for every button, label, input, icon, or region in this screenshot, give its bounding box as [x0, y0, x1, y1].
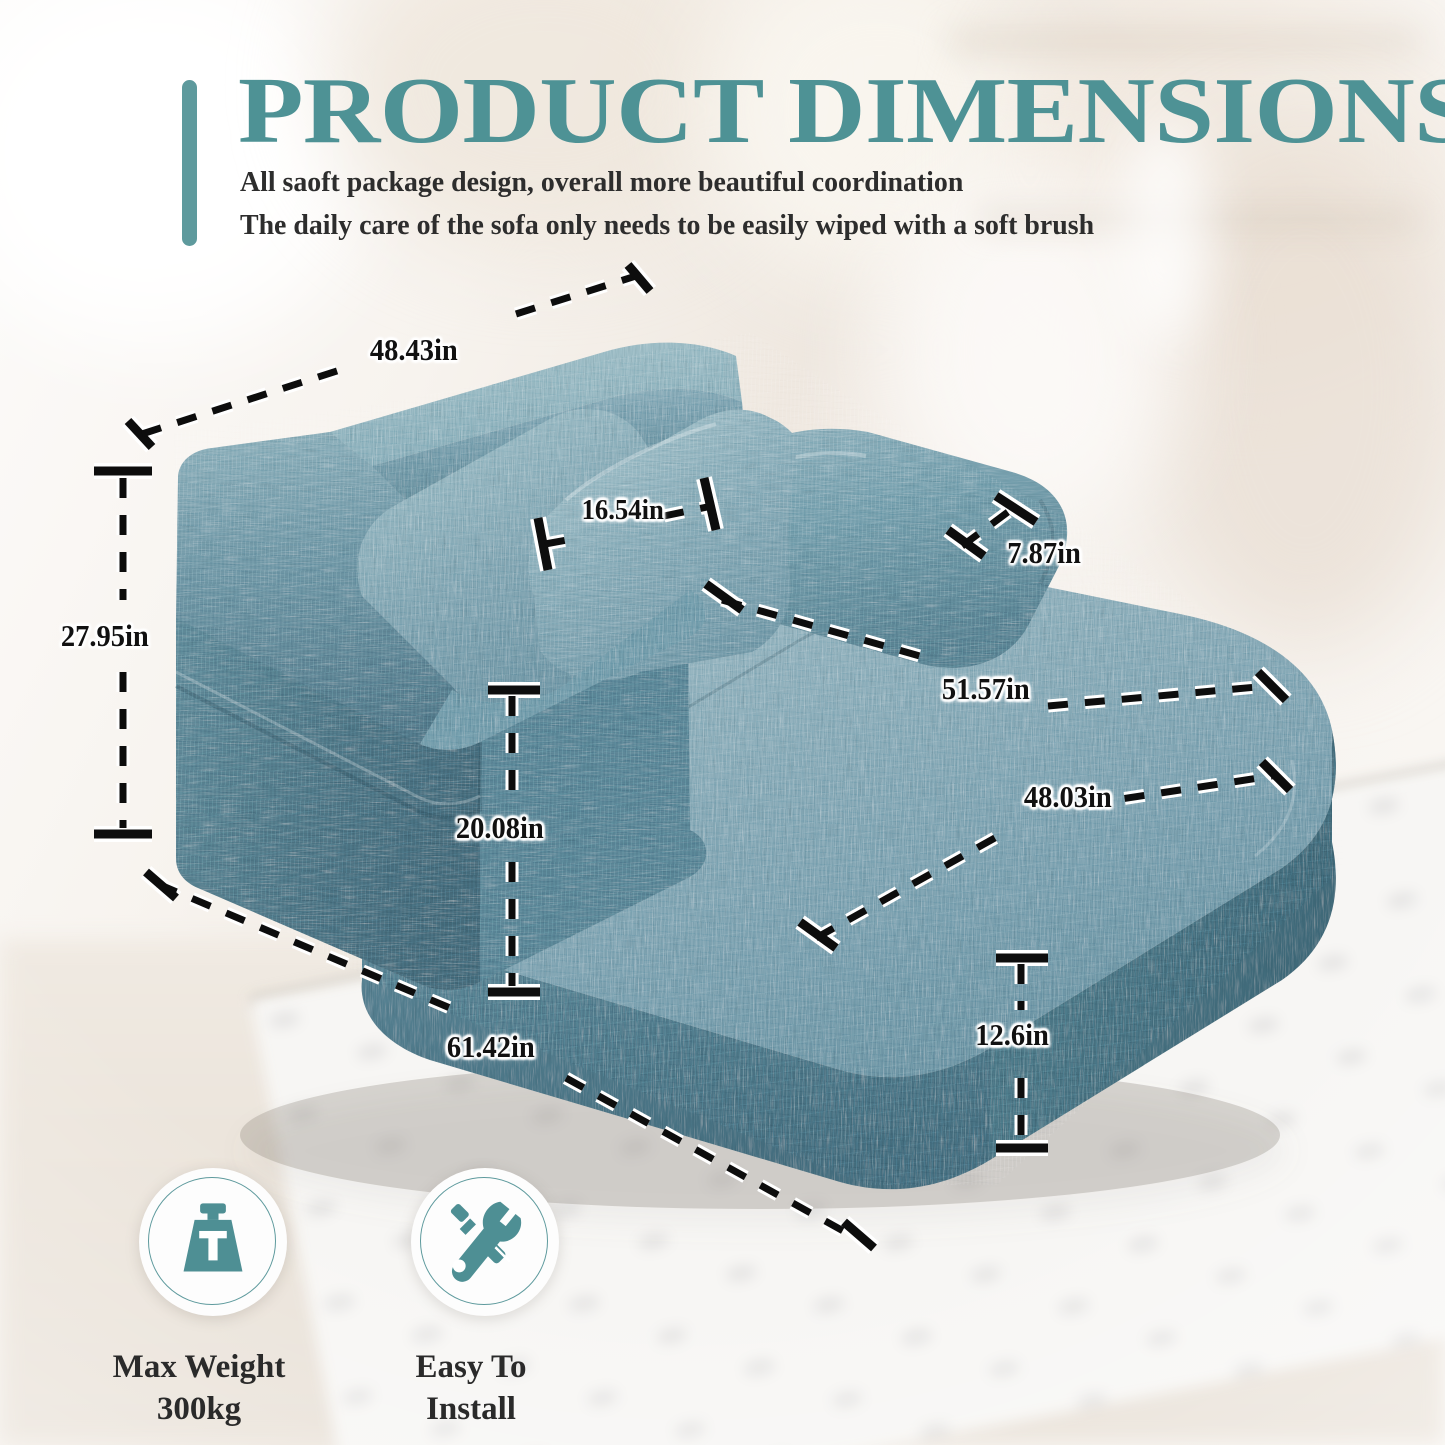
- dimension-label-12-6: 12.6in: [975, 1017, 1049, 1053]
- page-title: PRODUCT DIMENSIONS: [238, 64, 1445, 158]
- tools-icon: [439, 1196, 531, 1288]
- weight-icon: [167, 1196, 259, 1288]
- feature-badge-line-2: Install: [351, 1388, 591, 1430]
- dimension-label-16-54: 16.54in: [582, 494, 664, 527]
- dimension-label-7-87: 7.87in: [1007, 535, 1081, 571]
- feature-badge-circle: [411, 1168, 559, 1316]
- product-dimensions-infographic: .dl{stroke:#0d0d0d;stroke-width:7;stroke…: [0, 0, 1445, 1445]
- dimension-label-27-95: 27.95in: [61, 618, 149, 654]
- header-accent-bar: [182, 80, 197, 246]
- header-subtitle-line-1: All saoft package design, overall more b…: [240, 166, 963, 199]
- dimension-line-12-6: [996, 958, 1048, 1148]
- feature-badge-line-1: Easy To: [351, 1346, 591, 1388]
- feature-badge-line-1: Max Weight: [79, 1346, 319, 1388]
- dimension-label-48-03: 48.03in: [1024, 779, 1112, 815]
- feature-badge-line-2: 300kg: [79, 1388, 319, 1430]
- feature-badge-text: Easy To Install: [351, 1346, 591, 1430]
- dimension-label-51-57: 51.57in: [942, 671, 1030, 707]
- dimension-label-48-43: 48.43in: [370, 332, 458, 368]
- feature-badge-max-weight: Max Weight 300kg: [108, 1168, 368, 1428]
- feature-badge-easy-install: Easy To Install: [380, 1168, 640, 1428]
- header-subtitle-line-2: The daily care of the sofa only needs to…: [240, 209, 1094, 242]
- dimension-label-20-08: 20.08in: [456, 810, 544, 846]
- feature-badge-circle: [139, 1168, 287, 1316]
- feature-badge-text: Max Weight 300kg: [79, 1346, 319, 1430]
- dimension-label-61-42: 61.42in: [447, 1029, 535, 1065]
